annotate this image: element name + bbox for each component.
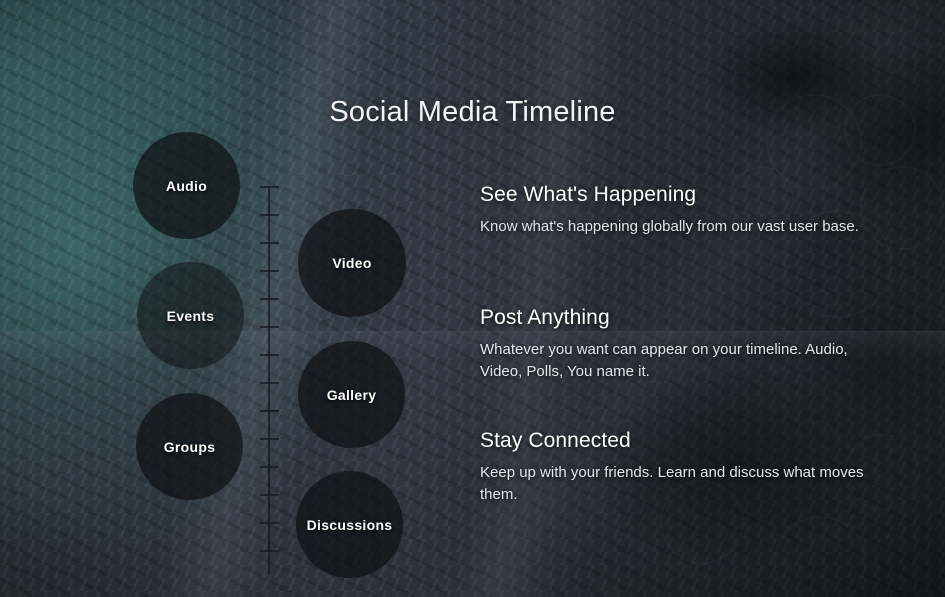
timeline-bubble-label: Groups (164, 439, 216, 455)
ruler-tick (260, 214, 279, 216)
ruler-tick (260, 354, 279, 356)
ruler-tick (260, 242, 279, 244)
feature-block: Stay ConnectedKeep up with your friends.… (480, 429, 872, 506)
ruler-tick (260, 466, 279, 468)
feature-body: Whatever you want can appear on your tim… (480, 339, 872, 383)
timeline-bubble-events[interactable]: Events (137, 262, 244, 369)
social-media-timeline-page: Social Media Timeline AudioVideoEventsGa… (0, 0, 945, 597)
timeline-bubble-label: Discussions (307, 517, 393, 533)
vertical-timeline-ruler (268, 186, 270, 574)
feature-block: See What's HappeningKnow what's happenin… (480, 183, 872, 238)
feature-heading: See What's Happening (480, 183, 872, 207)
timeline-bubble-gallery[interactable]: Gallery (298, 341, 405, 448)
feature-body: Know what's happening globally from our … (480, 216, 872, 238)
feature-block: Post AnythingWhatever you want can appea… (480, 306, 872, 383)
timeline-bubble-label: Video (332, 255, 371, 271)
ruler-tick (260, 382, 279, 384)
timeline-bubble-label: Events (167, 308, 215, 324)
ruler-tick (260, 494, 279, 496)
timeline-bubble-groups[interactable]: Groups (136, 393, 243, 500)
ruler-tick (260, 410, 279, 412)
feature-heading: Post Anything (480, 306, 872, 330)
timeline-bubble-label: Gallery (327, 387, 377, 403)
timeline-bubble-audio[interactable]: Audio (133, 132, 240, 239)
feature-heading: Stay Connected (480, 429, 872, 453)
timeline-bubble-video[interactable]: Video (298, 209, 406, 317)
ruler-tick (260, 438, 279, 440)
ruler-tick (260, 186, 279, 188)
ruler-tick (260, 326, 279, 328)
timeline-bubble-label: Audio (166, 178, 207, 194)
ruler-tick (260, 550, 279, 552)
ruler-tick (260, 270, 279, 272)
timeline-bubble-discussions[interactable]: Discussions (296, 471, 403, 578)
page-title: Social Media Timeline (0, 96, 945, 129)
ruler-tick (260, 298, 279, 300)
ruler-tick (260, 522, 279, 524)
feature-body: Keep up with your friends. Learn and dis… (480, 462, 872, 506)
